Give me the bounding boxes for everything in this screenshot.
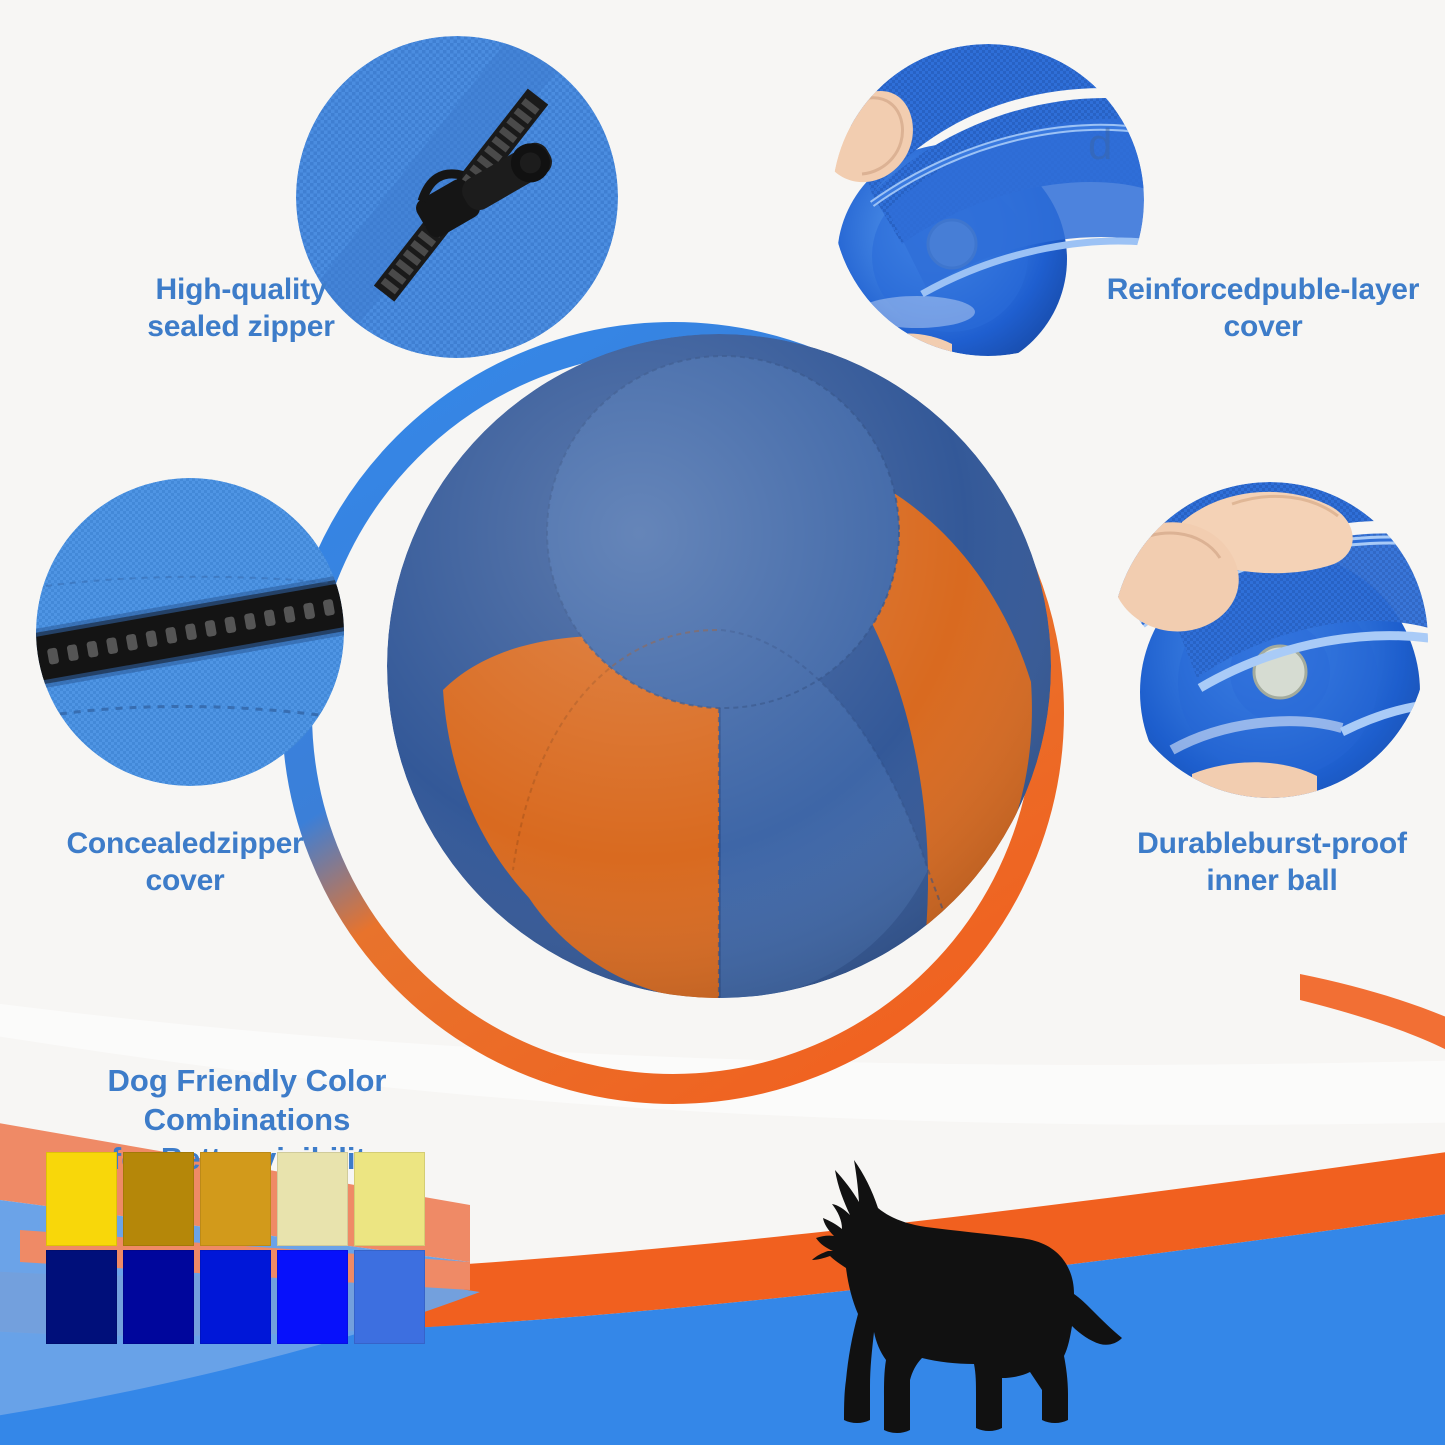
- dog-ball-product-image: [383, 330, 1055, 1002]
- color-swatch: [123, 1250, 194, 1344]
- product-infographic: d High-quality sealed zipper Reinforcedp…: [0, 0, 1445, 1445]
- feature-label-line2: inner ball: [1112, 863, 1432, 900]
- feature-label-line2: sealed zipper: [96, 309, 386, 346]
- feature-label-line2: cover: [1098, 309, 1428, 346]
- feature-photo-concealed-zipper: [36, 478, 344, 786]
- yellow-swatch-row: [46, 1152, 425, 1246]
- color-section-title-line1: Dog Friendly Color Combinations: [12, 1062, 482, 1140]
- color-swatch: [354, 1152, 425, 1246]
- feature-label-line1: Concealedzipper: [40, 826, 330, 863]
- feature-label-sealed-zipper: High-quality sealed zipper: [96, 272, 386, 345]
- color-swatch: [46, 1152, 117, 1246]
- color-swatch: [354, 1250, 425, 1344]
- feature-label-inner-ball: Durableburst-proof inner ball: [1112, 826, 1432, 899]
- feature-label-concealed-zipper: Concealedzipper cover: [40, 826, 330, 899]
- wave-orange-topright-arc: [1300, 974, 1445, 1058]
- watermark-letter: d: [1088, 120, 1112, 170]
- feature-label-reinforced-cover: Reinforcedpuble-layer cover: [1098, 272, 1428, 345]
- german-shepherd-silhouette: [780, 1152, 1140, 1437]
- color-swatch: [46, 1250, 117, 1344]
- feature-label-line1: Durableburst-proof: [1112, 826, 1432, 863]
- feature-photo-inner-ball: [1112, 482, 1428, 798]
- feature-label-line2: cover: [40, 863, 330, 900]
- color-swatch: [277, 1152, 348, 1246]
- blue-swatch-row: [46, 1250, 425, 1344]
- feature-label-line1: High-quality: [96, 272, 386, 309]
- color-swatch: [277, 1250, 348, 1344]
- feature-label-line1: Reinforcedpuble-layer: [1098, 272, 1428, 309]
- color-swatch: [123, 1152, 194, 1246]
- color-swatch: [200, 1250, 271, 1344]
- color-swatch: [200, 1152, 271, 1246]
